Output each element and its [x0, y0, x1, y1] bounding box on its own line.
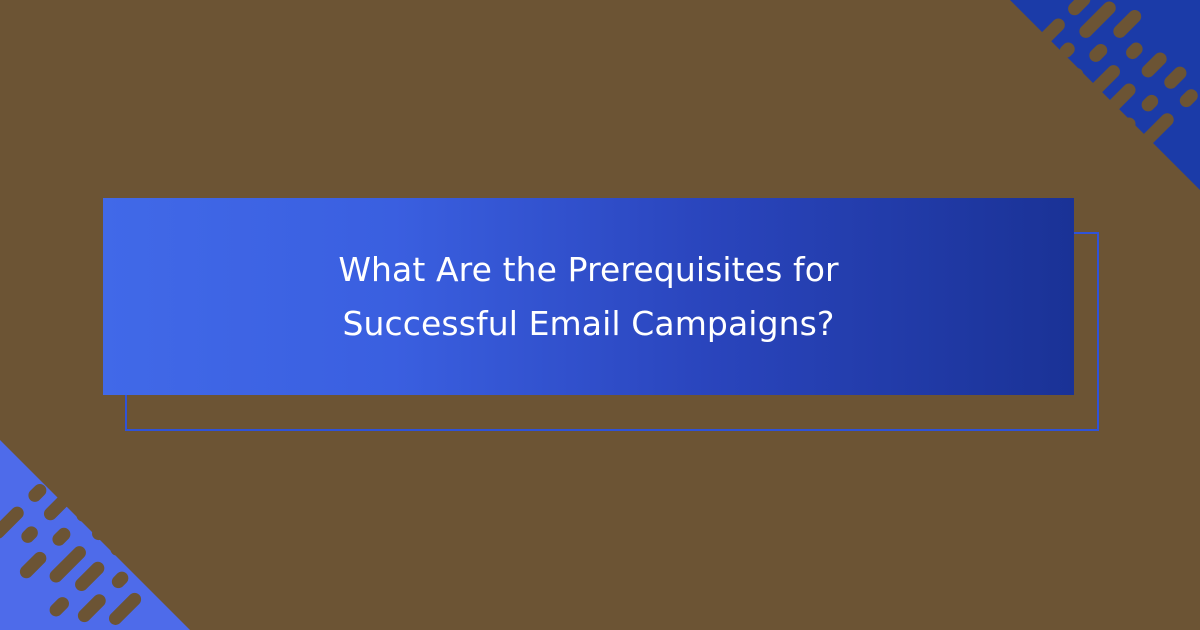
- bottom-left-corner-decoration: [0, 440, 190, 630]
- featured-image-card: What Are the Prerequisites for Successfu…: [0, 0, 1200, 630]
- page-title: What Are the Prerequisites for Successfu…: [209, 243, 969, 350]
- title-banner: What Are the Prerequisites for Successfu…: [103, 198, 1074, 395]
- top-right-corner-decoration: [1010, 0, 1200, 190]
